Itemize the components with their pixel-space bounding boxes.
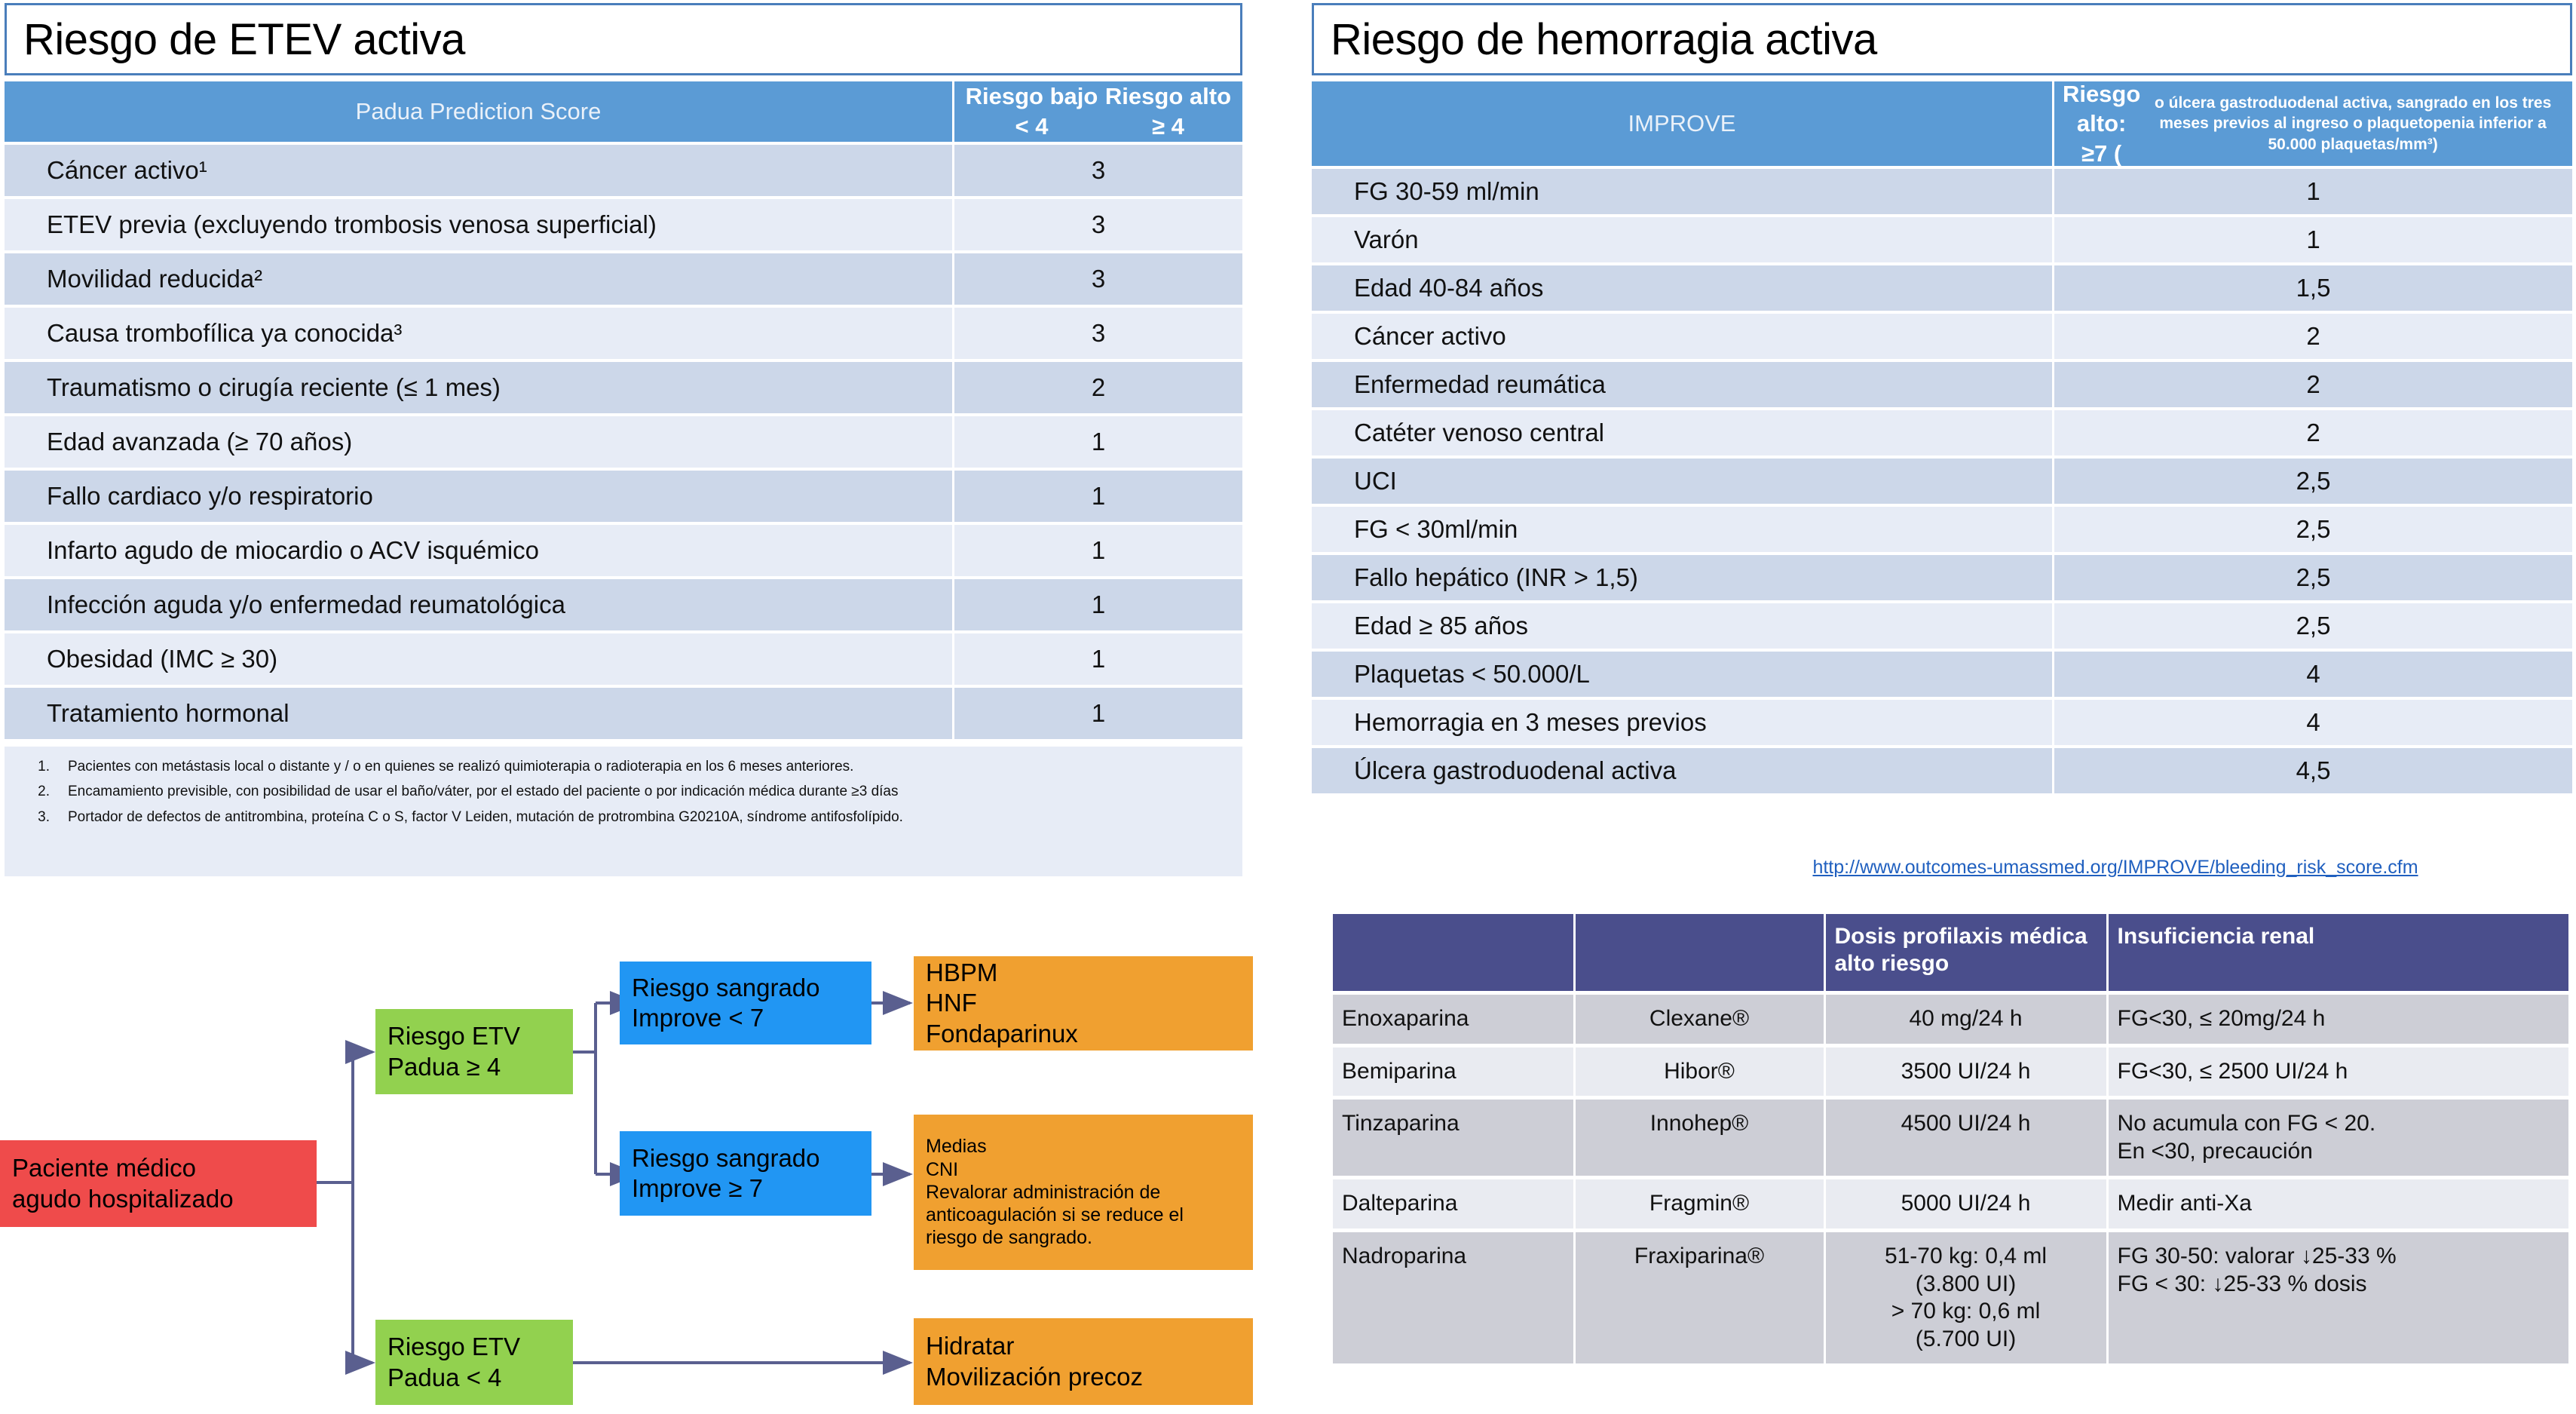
- risk-factor-label: Tratamiento hormonal: [5, 688, 954, 739]
- table-row: Fallo cardiaco y/o respiratorio1: [5, 471, 1242, 522]
- improve-header-threshold: Riesgo alto: ≥7 (o úlcera gastroduodenal…: [2054, 81, 2572, 166]
- drug-brand-name: Hibor®: [1574, 1047, 1824, 1097]
- drug-row: BemiparinaHibor®3500 UI/24 hFG<30, ≤ 250…: [1333, 1047, 2569, 1097]
- table-row: Edad 40-84 años1,5: [1312, 265, 2572, 311]
- risk-factor-points: 4: [2054, 700, 2572, 745]
- flow-mech-line5: riesgo de sangrado.: [914, 1226, 1253, 1249]
- risk-factor-points: 1: [954, 579, 1242, 630]
- table-row: Infarto agudo de miocardio o ACV isquémi…: [5, 525, 1242, 576]
- risk-factor-points: 2,5: [2054, 459, 2572, 504]
- table-row: FG < 30ml/min2,5: [1312, 507, 2572, 552]
- flow-padua-low-line1: Riesgo ETV: [375, 1332, 573, 1362]
- drug-table-column-header: Dosis profilaxis médica alto riesgo: [1824, 914, 2107, 991]
- improve-table-header: IMPROVERiesgo alto: ≥7 (o úlcera gastrod…: [1312, 81, 2572, 166]
- footnote-number: 3.: [5, 806, 68, 828]
- table-row: ETEV previa (excluyendo trombosis venosa…: [5, 199, 1242, 250]
- risk-factor-label: Edad 40-84 años: [1312, 265, 2054, 311]
- footnote-item: 1.Pacientes con metástasis local o dista…: [5, 754, 1242, 779]
- drug-brand-name: Innohep®: [1574, 1100, 1824, 1176]
- table-row: Enfermedad reumática2: [1312, 362, 2572, 407]
- table-row: Varón1: [1312, 217, 2572, 262]
- flow-start-line2: agudo hospitalizado: [0, 1184, 317, 1214]
- flow-node-padua-high[interactable]: Riesgo ETV Padua ≥ 4: [375, 1009, 573, 1094]
- drug-generic-name: Dalteparina: [1333, 1179, 1574, 1228]
- flow-padua-high-line2: Padua ≥ 4: [375, 1052, 573, 1082]
- flow-node-hydrate[interactable]: Hidratar Movilización precoz: [914, 1318, 1253, 1405]
- drug-table-header-row: Dosis profilaxis médica alto riesgoInsuf…: [1333, 914, 2569, 991]
- drug-prophylaxis-dose: 4500 UI/24 h: [1824, 1100, 2107, 1176]
- drug-generic-name: Bemiparina: [1333, 1047, 1574, 1097]
- drug-table-column-header: [1333, 914, 1574, 991]
- flow-start-line1: Paciente médico: [0, 1153, 317, 1183]
- drug-renal-adjustment: FG<30, ≤ 2500 UI/24 h: [2107, 1047, 2569, 1097]
- risk-factor-points: 2: [954, 362, 1242, 413]
- flow-node-mechanical[interactable]: Medias CNI Revalorar administración de a…: [914, 1115, 1253, 1270]
- risk-factor-label: Causa trombofílica ya conocida³: [5, 308, 954, 359]
- padua-header-threshold-line: Riesgo bajo < 4: [962, 81, 1101, 141]
- risk-factor-label: Enfermedad reumática: [1312, 362, 2054, 407]
- footnote-text: Portador de defectos de antitrombina, pr…: [68, 806, 1217, 828]
- risk-factor-label: Edad avanzada (≥ 70 años): [5, 416, 954, 468]
- heparin-dosing-table: Dosis profilaxis médica alto riesgoInsuf…: [1333, 914, 2569, 1363]
- heparin-dosing-grid: Dosis profilaxis médica alto riesgoInsuf…: [1333, 914, 2571, 1363]
- drug-renal-adjustment: Medir anti-Xa: [2107, 1179, 2569, 1228]
- drug-generic-name: Tinzaparina: [1333, 1100, 1574, 1176]
- drug-prophylaxis-dose: 3500 UI/24 h: [1824, 1047, 2107, 1097]
- table-row: Infección aguda y/o enfermedad reumatoló…: [5, 579, 1242, 630]
- risk-factor-label: Hemorragia en 3 meses previos: [1312, 700, 2054, 745]
- drug-row: NadroparinaFraxiparina®51-70 kg: 0,4 ml(…: [1333, 1232, 2569, 1363]
- risk-factor-points: 2: [2054, 314, 2572, 359]
- padua-table-header: Padua Prediction ScoreRiesgo bajo < 4Rie…: [5, 81, 1242, 142]
- risk-factor-points: 3: [954, 145, 1242, 196]
- table-row: Fallo hepático (INR > 1,5)2,5: [1312, 555, 2572, 600]
- flow-node-drugs[interactable]: HBPM HNF Fondaparinux: [914, 956, 1253, 1051]
- drug-renal-adjustment: FG 30-50: valorar ↓25-33 %FG < 30: ↓25-3…: [2107, 1232, 2569, 1363]
- left-panel-title-text: Riesgo de ETEV activa: [7, 14, 465, 65]
- drug-renal-adjustment: No acumula con FG < 20.En <30, precaució…: [2107, 1100, 2569, 1176]
- flow-node-bleed-high[interactable]: Riesgo sangrado Improve ≥ 7: [620, 1131, 871, 1216]
- risk-factor-points: 1,5: [2054, 265, 2572, 311]
- footnote-number: 1.: [5, 756, 68, 778]
- flow-mech-line2: CNI: [914, 1158, 1253, 1181]
- drug-generic-name: Nadroparina: [1333, 1232, 1574, 1363]
- right-panel-title: Riesgo de hemorragia activa: [1312, 3, 2572, 75]
- drug-row: TinzaparinaInnohep®4500 UI/24 hNo acumul…: [1333, 1100, 2569, 1176]
- table-row: Úlcera gastroduodenal activa4,5: [1312, 748, 2572, 793]
- risk-factor-label: Infarto agudo de miocardio o ACV isquémi…: [5, 525, 954, 576]
- risk-factor-points: 3: [954, 199, 1242, 250]
- padua-header-threshold-line: Riesgo alto ≥ 4: [1101, 81, 1235, 141]
- flow-node-padua-low[interactable]: Riesgo ETV Padua < 4: [375, 1320, 573, 1405]
- left-panel-title: Riesgo de ETEV activa: [5, 3, 1242, 75]
- risk-factor-points: 1: [954, 416, 1242, 468]
- table-row: Catéter venoso central2: [1312, 410, 2572, 455]
- risk-factor-label: Plaquetas < 50.000/L: [1312, 652, 2054, 697]
- flow-bleed-low-line1: Riesgo sangrado: [620, 973, 871, 1003]
- table-row: Causa trombofílica ya conocida³3: [5, 308, 1242, 359]
- flow-drugs-line3: Fondaparinux: [914, 1019, 1253, 1049]
- drug-brand-name: Fraxiparina®: [1574, 1232, 1824, 1363]
- flow-hydrate-line1: Hidratar: [914, 1331, 1253, 1361]
- risk-factor-points: 3: [954, 308, 1242, 359]
- table-row: Movilidad reducida²3: [5, 253, 1242, 305]
- risk-factor-label: Traumatismo o cirugía reciente (≤ 1 mes): [5, 362, 954, 413]
- risk-factor-points: 3: [954, 253, 1242, 305]
- risk-factor-points: 1: [954, 525, 1242, 576]
- risk-factor-label: Obesidad (IMC ≥ 30): [5, 633, 954, 685]
- flow-drugs-line2: HNF: [914, 988, 1253, 1018]
- flow-drugs-line1: HBPM: [914, 958, 1253, 988]
- risk-factor-points: 1: [954, 471, 1242, 522]
- padua-header-label: Padua Prediction Score: [5, 81, 954, 142]
- table-row: Cáncer activo¹3: [5, 145, 1242, 196]
- risk-factor-label: Movilidad reducida²: [5, 253, 954, 305]
- flow-bleed-high-line2: Improve ≥ 7: [620, 1173, 871, 1204]
- drug-table-column-header: [1574, 914, 1824, 991]
- risk-factor-label: FG 30-59 ml/min: [1312, 169, 2054, 214]
- risk-factor-label: Fallo hepático (INR > 1,5): [1312, 555, 2054, 600]
- risk-factor-points: 2,5: [2054, 507, 2572, 552]
- risk-factor-label: Úlcera gastroduodenal activa: [1312, 748, 2054, 793]
- risk-factor-label: Cáncer activo¹: [5, 145, 954, 196]
- risk-factor-label: Catéter venoso central: [1312, 410, 2054, 455]
- table-row: Tratamiento hormonal1: [5, 688, 1242, 739]
- footnote-text: Encamamiento previsible, con posibilidad…: [68, 781, 1217, 802]
- drug-prophylaxis-dose: 40 mg/24 h: [1824, 995, 2107, 1044]
- improve-score-table: IMPROVERiesgo alto: ≥7 (o úlcera gastrod…: [1312, 81, 2572, 793]
- table-row: Traumatismo o cirugía reciente (≤ 1 mes)…: [5, 362, 1242, 413]
- drug-row: DalteparinaFragmin®5000 UI/24 hMedir ant…: [1333, 1179, 2569, 1228]
- improve-header-label: IMPROVE: [1312, 81, 2054, 166]
- risk-factor-label: ETEV previa (excluyendo trombosis venosa…: [5, 199, 954, 250]
- risk-factor-points: 2: [2054, 410, 2572, 455]
- table-row: Obesidad (IMC ≥ 30)1: [5, 633, 1242, 685]
- table-row: Cáncer activo2: [1312, 314, 2572, 359]
- flow-mech-line4: anticoagulación si se reduce el: [914, 1204, 1253, 1226]
- improve-source-link[interactable]: http://www.outcomes-umassmed.org/IMPROVE…: [1659, 857, 2572, 879]
- improve-header-threshold-line: Riesgo alto: ≥7 (: [2062, 79, 2141, 169]
- footnote-item: 2.Encamamiento previsible, con posibilid…: [5, 779, 1242, 804]
- drug-table-column-header: Insuficiencia renal: [2107, 914, 2569, 991]
- risk-factor-label: UCI: [1312, 459, 2054, 504]
- table-row: Hemorragia en 3 meses previos4: [1312, 700, 2572, 745]
- risk-factor-label: Fallo cardiaco y/o respiratorio: [5, 471, 954, 522]
- slide-canvas: Riesgo de ETEV activa Padua Prediction S…: [0, 0, 2576, 1414]
- table-row: FG 30-59 ml/min1: [1312, 169, 2572, 214]
- footnote-number: 2.: [5, 781, 68, 802]
- padua-header-threshold: Riesgo bajo < 4Riesgo alto ≥ 4: [954, 81, 1242, 142]
- table-row: Edad avanzada (≥ 70 años)1: [5, 416, 1242, 468]
- flow-node-start[interactable]: Paciente médico agudo hospitalizado: [0, 1140, 317, 1227]
- drug-prophylaxis-dose: 51-70 kg: 0,4 ml(3.800 UI)> 70 kg: 0,6 m…: [1824, 1232, 2107, 1363]
- flow-padua-low-line2: Padua < 4: [375, 1363, 573, 1393]
- padua-footnotes: 1.Pacientes con metástasis local o dista…: [5, 747, 1242, 876]
- risk-factor-points: 2,5: [2054, 603, 2572, 649]
- flow-bleed-low-line2: Improve < 7: [620, 1003, 871, 1033]
- drug-prophylaxis-dose: 5000 UI/24 h: [1824, 1179, 2107, 1228]
- footnote-item: 3.Portador de defectos de antitrombina, …: [5, 805, 1242, 830]
- table-row: Edad ≥ 85 años2,5: [1312, 603, 2572, 649]
- risk-factor-points: 4: [2054, 652, 2572, 697]
- table-row: Plaquetas < 50.000/L4: [1312, 652, 2572, 697]
- risk-factor-label: Varón: [1312, 217, 2054, 262]
- risk-factor-points: 2,5: [2054, 555, 2572, 600]
- risk-factor-points: 1: [2054, 217, 2572, 262]
- flow-padua-high-line1: Riesgo ETV: [375, 1021, 573, 1051]
- risk-factor-points: 4,5: [2054, 748, 2572, 793]
- risk-factor-points: 1: [954, 688, 1242, 739]
- drug-row: EnoxaparinaClexane®40 mg/24 hFG<30, ≤ 20…: [1333, 995, 2569, 1044]
- drug-brand-name: Fragmin®: [1574, 1179, 1824, 1228]
- improve-header-threshold-line: o úlcera gastroduodenal activa, sangrado…: [2141, 93, 2565, 155]
- right-panel-title-text: Riesgo de hemorragia activa: [1314, 14, 1877, 65]
- risk-factor-points: 1: [2054, 169, 2572, 214]
- risk-factor-points: 1: [954, 633, 1242, 685]
- padua-score-table: Padua Prediction ScoreRiesgo bajo < 4Rie…: [5, 81, 1242, 739]
- flow-hydrate-line2: Movilización precoz: [914, 1362, 1253, 1392]
- footnote-text: Pacientes con metástasis local o distant…: [68, 756, 1217, 778]
- flow-bleed-high-line1: Riesgo sangrado: [620, 1143, 871, 1173]
- flow-node-bleed-low[interactable]: Riesgo sangrado Improve < 7: [620, 962, 871, 1044]
- flow-mech-line3: Revalorar administración de: [914, 1181, 1253, 1204]
- risk-factor-label: Infección aguda y/o enfermedad reumatoló…: [5, 579, 954, 630]
- risk-factor-label: Edad ≥ 85 años: [1312, 603, 2054, 649]
- flow-mech-line1: Medias: [914, 1135, 1253, 1158]
- risk-factor-points: 2: [2054, 362, 2572, 407]
- table-row: UCI2,5: [1312, 459, 2572, 504]
- drug-brand-name: Clexane®: [1574, 995, 1824, 1044]
- risk-factor-label: FG < 30ml/min: [1312, 507, 2054, 552]
- drug-renal-adjustment: FG<30, ≤ 20mg/24 h: [2107, 995, 2569, 1044]
- drug-generic-name: Enoxaparina: [1333, 995, 1574, 1044]
- risk-factor-label: Cáncer activo: [1312, 314, 2054, 359]
